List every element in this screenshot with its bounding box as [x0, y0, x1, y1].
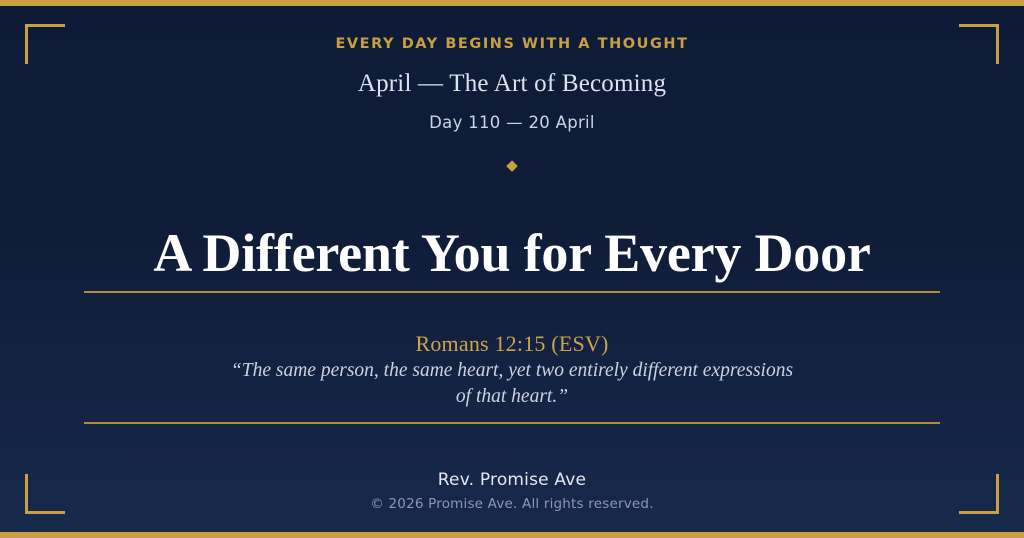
card-content: EVERY DAY BEGINS WITH A THOUGHT April — … — [0, 0, 1024, 538]
scripture-reference: Romans 12:15 (ESV) — [0, 331, 1024, 357]
author-name: Rev. Promise Ave — [0, 470, 1024, 490]
divider-bottom — [84, 422, 940, 424]
eyebrow-tagline: EVERY DAY BEGINS WITH A THOUGHT — [0, 36, 1024, 52]
diamond-ornament-icon: ◆ — [0, 158, 1024, 173]
page-title: A Different You for Every Door — [60, 222, 964, 285]
copyright-notice: © 2026 Promise Ave. All rights reserved. — [0, 496, 1024, 512]
divider-top — [84, 291, 940, 293]
devotional-card: EVERY DAY BEGINS WITH A THOUGHT April — … — [0, 0, 1024, 538]
scripture-text: “The same person, the same heart, yet tw… — [230, 358, 794, 411]
series-title: April — The Art of Becoming — [0, 70, 1024, 98]
day-stamp: Day 110 — 20 April — [0, 113, 1024, 132]
